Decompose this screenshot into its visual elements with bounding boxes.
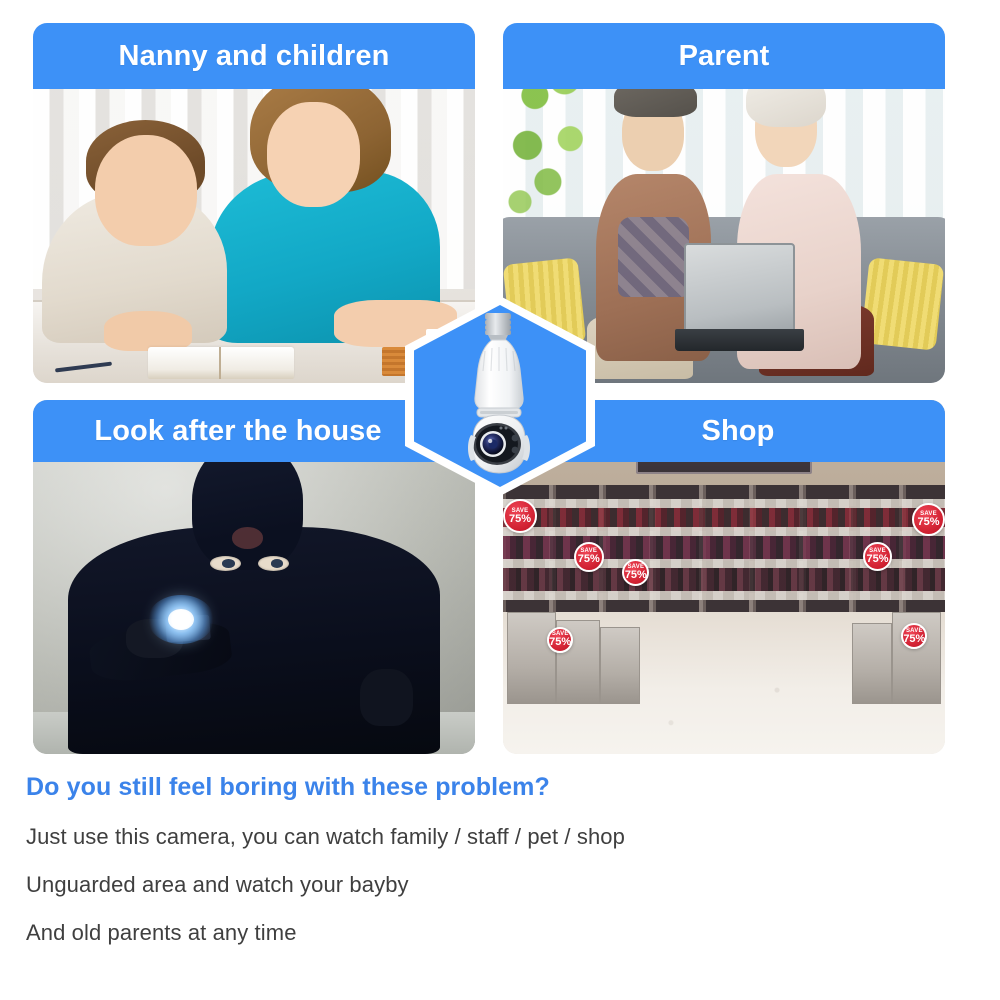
panel-title-house: Look after the house [94, 417, 381, 446]
product-image-wrap [405, 296, 595, 496]
photo-shelf-goods-row-3 [503, 568, 945, 593]
photo-burglar-eye-right [258, 556, 289, 571]
photo-woman-head [267, 102, 360, 206]
status-led [500, 427, 503, 430]
copy-line-1: Just use this camera, you can watch fami… [26, 824, 966, 850]
lens-highlight [488, 439, 492, 443]
sale-percent-label: 75% [866, 554, 888, 565]
panel-header-nanny: Nanny and children [33, 23, 475, 89]
panel-title-parent: Parent [679, 42, 770, 71]
sale-sticker: SAVE 75% [503, 499, 537, 533]
photo-endcap-display [852, 623, 892, 704]
sale-percent-label: 75% [578, 554, 600, 565]
ir-led [512, 447, 519, 454]
panel-header-parent: Parent [503, 23, 945, 89]
screw-base-icon [485, 313, 511, 341]
photo-man-argyle-vest [618, 217, 689, 296]
copy-headline: Do you still feel boring with these prob… [26, 772, 966, 802]
photo-burglar-eye-left [210, 556, 241, 571]
photo-burglar-glove-right [360, 669, 413, 726]
marketing-copy-block: Do you still feel boring with these prob… [26, 772, 966, 946]
photo-shelf-edge-2 [503, 527, 945, 536]
photo-boy-arm [104, 311, 192, 351]
copy-line-3: And old parents at any time [26, 920, 966, 946]
sale-percent-label: 75% [549, 637, 571, 648]
photo-shelf-edge-1 [503, 499, 945, 508]
photo-laptop-screen [684, 243, 795, 337]
photo-laptop-base [675, 329, 803, 351]
sale-sticker: SAVE 75% [547, 627, 573, 653]
photo-boy-head [95, 135, 197, 247]
sale-sticker: SAVE 75% [574, 542, 604, 572]
marketing-image-root: Nanny and children [0, 0, 1000, 1000]
photo-endcap-display [600, 627, 640, 705]
photo-burglar-mouth [232, 527, 263, 548]
status-led [505, 427, 508, 430]
photo-endcap-display [507, 612, 556, 704]
sale-percent-label: 75% [625, 570, 647, 581]
sale-percent-label: 75% [509, 514, 531, 525]
bulb-socket-camera-icon [435, 311, 565, 481]
ir-led [512, 435, 519, 442]
sale-sticker: SAVE 75% [863, 542, 892, 571]
photo-open-book [148, 347, 294, 379]
sale-sticker: SAVE 75% [912, 503, 945, 536]
copy-line-2: Unguarded area and watch your bayby [26, 872, 966, 898]
panel-title-nanny: Nanny and children [119, 42, 390, 71]
product-hexagon-badge [405, 296, 595, 496]
sale-percent-label: 75% [903, 634, 925, 645]
panel-title-shop: Shop [702, 417, 775, 446]
photo-shelf-edge-4 [503, 591, 945, 600]
sale-percent-label: 75% [917, 517, 939, 528]
